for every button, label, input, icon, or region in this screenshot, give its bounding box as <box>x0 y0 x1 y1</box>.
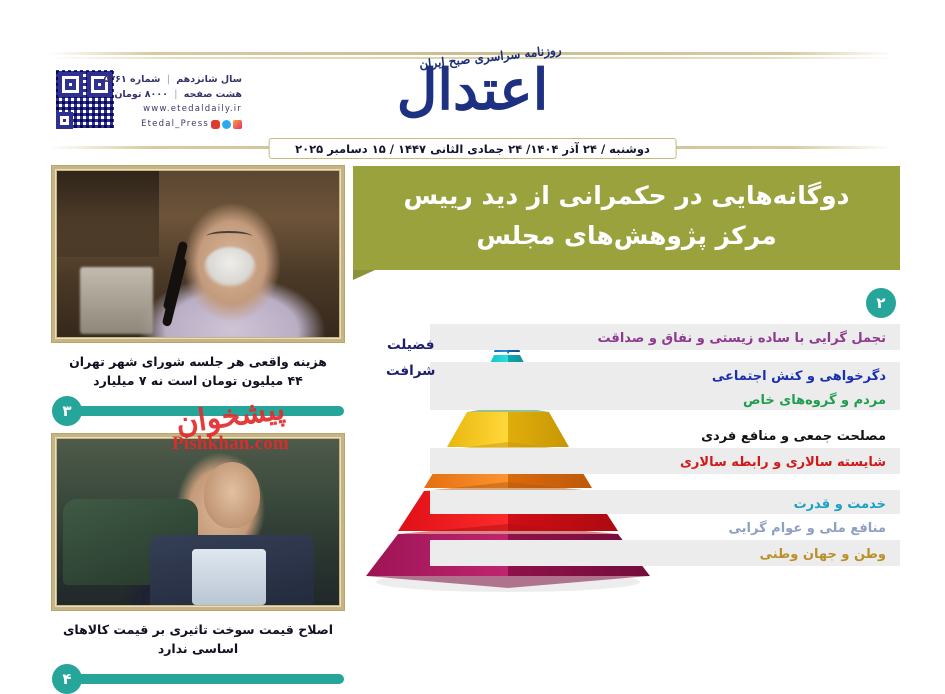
story-1-divider-row: ۳ <box>52 396 344 426</box>
story-2-divider-bar <box>76 674 344 684</box>
brand-name: اعتدال <box>0 61 945 119</box>
lead-page-badge[interactable]: ۲ <box>866 288 896 318</box>
qr-code-finder-icon <box>56 112 73 129</box>
pyramid-row-1: تجمل گرایی با ساده زیستی و نفاق و صداقت <box>430 324 900 350</box>
story-1-divider-bar <box>76 406 344 416</box>
story-2-caption[interactable]: اصلاح قیمت سوخت تاثیری بر قیمت کالاهای ا… <box>52 610 344 658</box>
pyramid-row-8-label: وطن و جهان وطنی <box>756 544 890 566</box>
pyramid-row-gap-1 <box>430 350 900 362</box>
date-line: دوشنبه / ۲۴ آذر ۱۴۰۴/ ۲۴ جمادی الثانی ۱۴… <box>295 142 650 156</box>
pyramid-row-7-label: منافع ملی و عوام گرایی <box>725 518 890 540</box>
pyramid-row-3: مردم و گروه‌های خاص <box>430 386 900 410</box>
date-ribbon: دوشنبه / ۲۴ آذر ۱۴۰۴/ ۲۴ جمادی الثانی ۱۴… <box>268 138 677 159</box>
photo-2-suit <box>150 535 314 605</box>
pyramid-row-5: شایسته سالاری و رابطه سالاری <box>430 448 900 474</box>
pyramid-side-label-1: شرافت <box>386 358 435 384</box>
pyramid-row-4-label: مصلحت جمعی و منافع فردی <box>697 426 890 448</box>
pyramid-row-3-label: مردم و گروه‌های خاص <box>739 390 890 412</box>
story-2-page-badge[interactable]: ۴ <box>52 664 82 694</box>
left-column: هزینه واقعی هر جلسه شورای شهر تهران ۴۴ م… <box>52 166 344 661</box>
pyramid-row-gap-2 <box>430 410 900 422</box>
pyramid-row-8: وطن و جهان وطنی <box>430 540 900 566</box>
pyramid-row-6-label: خدمت و قدرت <box>790 494 890 516</box>
story-2-photo <box>57 439 339 605</box>
youtube-icon[interactable] <box>211 120 220 129</box>
main-column: دوگانه‌هایی در حکمرانی از دید رییس مرکز … <box>348 166 900 661</box>
pyramid-row-2: دگرخواهی و کنش اجتماعی <box>430 362 900 386</box>
pyramid-side-labels: فضیلت شرافت <box>386 332 435 384</box>
story-1-photo-frame[interactable] <box>52 166 344 342</box>
brand-logo: روزنامه سراسری صبح ایران اعتدال <box>0 48 945 119</box>
social-handle-label: Etedal_Press <box>141 117 209 132</box>
story-1-page-badge[interactable]: ۳ <box>52 396 82 426</box>
story-2-photo-frame[interactable]: پیشخوان Pishkhan.com <box>52 434 344 610</box>
pyramid-row-4: مصلحت جمعی و منافع فردی <box>430 422 900 448</box>
masthead: سال شانزدهم | شماره ۵۲۶۱ هشت صفحه | ۸۰۰۰… <box>0 0 945 165</box>
telegram-icon[interactable] <box>222 120 231 129</box>
governance-pyramid-infographic: فضیلت شرافت <box>348 324 900 624</box>
photo-1-shadow <box>57 171 159 257</box>
pyramid-row-gap-3 <box>430 474 900 490</box>
story-1-photo <box>57 171 339 337</box>
story-2-divider-row: ۴ <box>52 664 344 694</box>
pyramid-label-rows: تجمل گرایی با ساده زیستی و نفاق و صداقت … <box>430 324 900 566</box>
lead-headline-text: دوگانه‌هایی در حکمرانی از دید رییس مرکز … <box>379 176 874 256</box>
pyramid-row-5-label: شایسته سالاری و رابطه سالاری <box>676 452 890 474</box>
photo-1-glasses <box>206 231 252 242</box>
pyramid-row-6: خدمت و قدرت <box>430 490 900 514</box>
pyramid-row-2-label: دگرخواهی و کنش اجتماعی <box>708 366 890 388</box>
pyramid-row-7: منافع ملی و عوام گرایی <box>430 514 900 540</box>
newspaper-front-page: سال شانزدهم | شماره ۵۲۶۱ هشت صفحه | ۸۰۰۰… <box>0 0 945 661</box>
social-row: Etedal_Press <box>112 117 242 132</box>
photo-2-face <box>204 462 260 528</box>
story-1-caption[interactable]: هزینه واقعی هر جلسه شورای شهر تهران ۴۴ م… <box>52 342 344 390</box>
pyramid-row-1-label: تجمل گرایی با ساده زیستی و نفاق و صداقت <box>594 328 890 350</box>
photo-1-face-highlight <box>204 247 256 287</box>
instagram-icon[interactable] <box>233 120 242 129</box>
lead-headline-banner[interactable]: دوگانه‌هایی در حکمرانی از دید رییس مرکز … <box>353 166 900 270</box>
pyramid-side-label-0: فضیلت <box>386 332 435 358</box>
